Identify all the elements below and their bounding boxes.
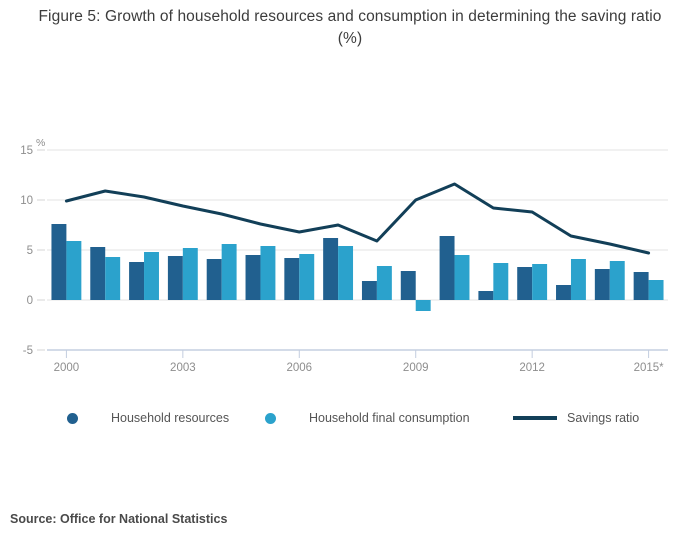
legend-item-savings-ratio[interactable]: Savings ratio (513, 404, 639, 432)
bar-household-resources[interactable] (362, 281, 377, 300)
x-axis-tick-label: 2012 (519, 362, 545, 374)
bar-household-resources[interactable] (246, 255, 261, 300)
legend-dot-household-final-consumption (265, 413, 276, 424)
bar-household-final-consumption[interactable] (377, 266, 392, 300)
bar-household-final-consumption[interactable] (416, 300, 431, 311)
y-axis-tick-label: 10 (20, 195, 33, 207)
bar-household-final-consumption[interactable] (105, 257, 120, 300)
bar-household-final-consumption[interactable] (144, 252, 159, 300)
bar-household-final-consumption[interactable] (493, 263, 508, 300)
source-note: Source: Office for National Statistics (10, 512, 227, 526)
bar-household-final-consumption[interactable] (299, 254, 314, 300)
line-savings-ratio[interactable] (66, 184, 648, 253)
bar-household-final-consumption[interactable] (222, 244, 237, 300)
bar-household-resources[interactable] (478, 291, 493, 300)
legend-label-household-resources: Household resources (111, 411, 229, 425)
chart-svg: -5051015%200020032006200920122015* (0, 0, 700, 400)
bar-household-final-consumption[interactable] (610, 261, 625, 300)
x-axis-tick-label: 2006 (286, 362, 312, 374)
bar-household-resources[interactable] (595, 269, 610, 300)
chart-plot-area: -5051015%200020032006200920122015* (0, 0, 700, 400)
bar-household-final-consumption[interactable] (260, 246, 275, 300)
x-axis-tick-label: 2015* (634, 362, 665, 374)
legend-item-household-resources[interactable]: Household resources (67, 404, 229, 432)
bar-household-resources[interactable] (517, 267, 532, 300)
bar-household-resources[interactable] (440, 236, 455, 300)
figure-container: Figure 5: Growth of household resources … (0, 0, 700, 549)
bar-household-final-consumption[interactable] (455, 255, 470, 300)
bar-household-final-consumption[interactable] (338, 246, 353, 300)
y-axis-tick-label: 5 (27, 245, 33, 257)
legend-label-household-final-consumption: Household final consumption (309, 411, 470, 425)
chart-legend: Household resources Household final cons… (55, 404, 655, 432)
bar-household-final-consumption[interactable] (66, 241, 81, 300)
bar-household-resources[interactable] (51, 224, 66, 300)
y-axis-unit-label: % (36, 137, 45, 149)
y-axis-tick-label: -5 (23, 345, 33, 357)
y-axis-tick-label: 15 (20, 145, 33, 157)
legend-line-savings-ratio (513, 416, 557, 420)
bar-household-final-consumption[interactable] (183, 248, 198, 300)
bar-household-resources[interactable] (129, 262, 144, 300)
bar-household-resources[interactable] (284, 258, 299, 300)
legend-item-household-final-consumption[interactable]: Household final consumption (265, 404, 470, 432)
legend-label-savings-ratio: Savings ratio (567, 411, 639, 425)
x-axis-tick-label: 2003 (170, 362, 196, 374)
bar-household-final-consumption[interactable] (571, 259, 586, 300)
bar-household-resources[interactable] (401, 271, 416, 300)
bar-household-final-consumption[interactable] (532, 264, 547, 300)
bar-household-resources[interactable] (90, 247, 105, 300)
x-axis-tick-label: 2000 (54, 362, 80, 374)
bar-household-resources[interactable] (323, 238, 338, 300)
bar-household-resources[interactable] (634, 272, 649, 300)
x-axis-tick-label: 2009 (403, 362, 429, 374)
legend-dot-household-resources (67, 413, 78, 424)
bar-household-resources[interactable] (556, 285, 571, 300)
bar-household-resources[interactable] (207, 259, 222, 300)
bar-household-final-consumption[interactable] (649, 280, 664, 300)
y-axis-tick-label: 0 (27, 295, 33, 307)
bar-household-resources[interactable] (168, 256, 183, 300)
